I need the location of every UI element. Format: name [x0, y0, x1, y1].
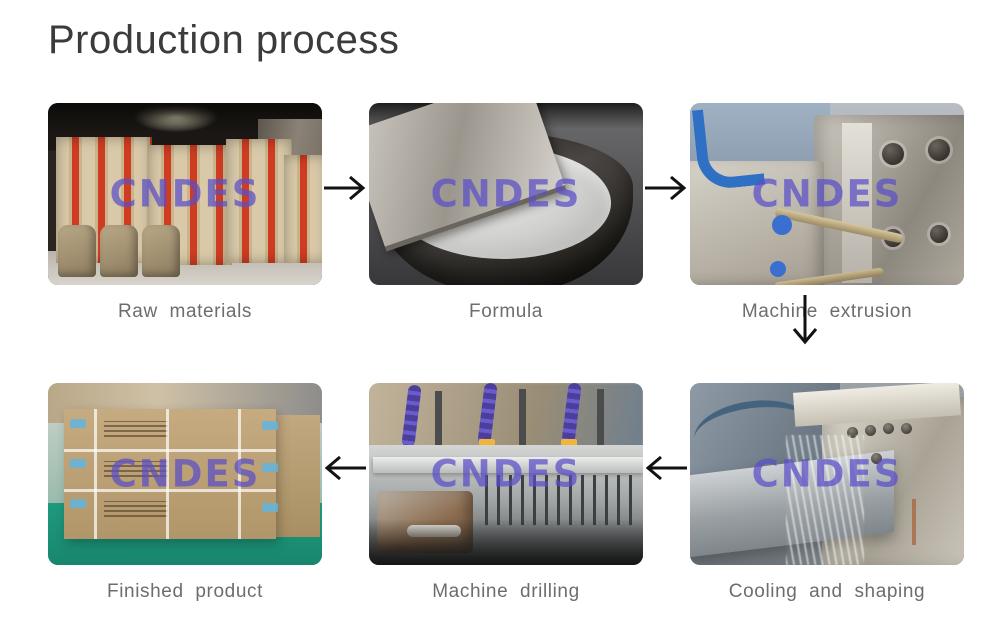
process-step-cooling-and-shaping[interactable]: CNDES Cooling and shaping: [690, 383, 964, 603]
strapping-band: [238, 409, 241, 539]
carton-label: [104, 501, 168, 517]
arrow-extrusion-to-cooling: [790, 293, 820, 349]
photo-cooling-and-shaping[interactable]: CNDES: [690, 383, 964, 565]
photo-machine-extrusion[interactable]: CNDES: [690, 103, 964, 285]
hose-collar: [772, 215, 792, 235]
machine-rail: [373, 457, 643, 473]
machine-post: [597, 389, 604, 449]
process-step-finished-product[interactable]: CNDES Finished product: [48, 383, 322, 603]
blue-sticker: [70, 499, 86, 508]
spray-nozzle: [901, 423, 912, 434]
process-flow-grid: CNDES Raw materials CNDES Formula: [0, 95, 1000, 615]
photo-finished-product[interactable]: CNDES: [48, 383, 322, 565]
page-title: Production process: [48, 10, 399, 70]
die-bore: [928, 139, 950, 161]
water-spray: [786, 435, 864, 565]
process-step-raw-materials[interactable]: CNDES Raw materials: [48, 103, 322, 323]
blue-sticker: [70, 459, 86, 468]
strapping-band: [94, 409, 97, 539]
loose-sack: [142, 225, 180, 277]
step-label-finished-product: Finished product: [48, 581, 322, 603]
drill-bits: [485, 475, 635, 525]
blue-sticker: [262, 503, 278, 512]
machine-post: [435, 391, 442, 451]
step-label-raw-materials: Raw materials: [48, 301, 322, 323]
arrow-cooling-to-drilling: [643, 453, 689, 483]
bag-stack: [284, 155, 322, 263]
loose-sack: [100, 225, 138, 277]
process-step-machine-drilling[interactable]: CNDES Machine drilling: [369, 383, 643, 603]
step-label-machine-drilling: Machine drilling: [369, 581, 643, 603]
die-plate: [842, 123, 872, 283]
spray-nozzle: [865, 425, 876, 436]
blue-sticker: [262, 463, 278, 472]
lower-shadow: [369, 519, 643, 565]
process-step-formula[interactable]: CNDES Formula: [369, 103, 643, 323]
spray-nozzle: [871, 453, 882, 464]
photo-formula[interactable]: CNDES: [369, 103, 643, 285]
die-bore: [882, 143, 904, 165]
machine-post: [519, 389, 526, 449]
arrow-raw-to-formula: [322, 173, 368, 203]
photo-raw-materials[interactable]: CNDES: [48, 103, 322, 285]
blue-sticker: [262, 421, 278, 430]
photo-machine-drilling[interactable]: CNDES: [369, 383, 643, 565]
spray-nozzle: [883, 423, 894, 434]
step-label-machine-extrusion: Machine extrusion: [690, 301, 964, 323]
step-label-formula: Formula: [369, 301, 643, 323]
bag-stack: [226, 139, 292, 263]
carton-label: [104, 421, 168, 437]
arrow-drilling-to-finished: [322, 453, 368, 483]
hose-collar: [770, 261, 786, 277]
blue-sticker: [70, 419, 86, 428]
step-label-cooling-and-shaping: Cooling and shaping: [690, 581, 964, 603]
arrow-formula-to-extrusion: [643, 173, 689, 203]
die-bore: [930, 225, 948, 243]
rust-mark: [912, 499, 916, 545]
process-step-machine-extrusion[interactable]: CNDES Machine extrusion: [690, 103, 964, 323]
carton-label: [104, 461, 168, 477]
loose-sack: [58, 225, 96, 277]
strapping-band: [166, 409, 169, 539]
